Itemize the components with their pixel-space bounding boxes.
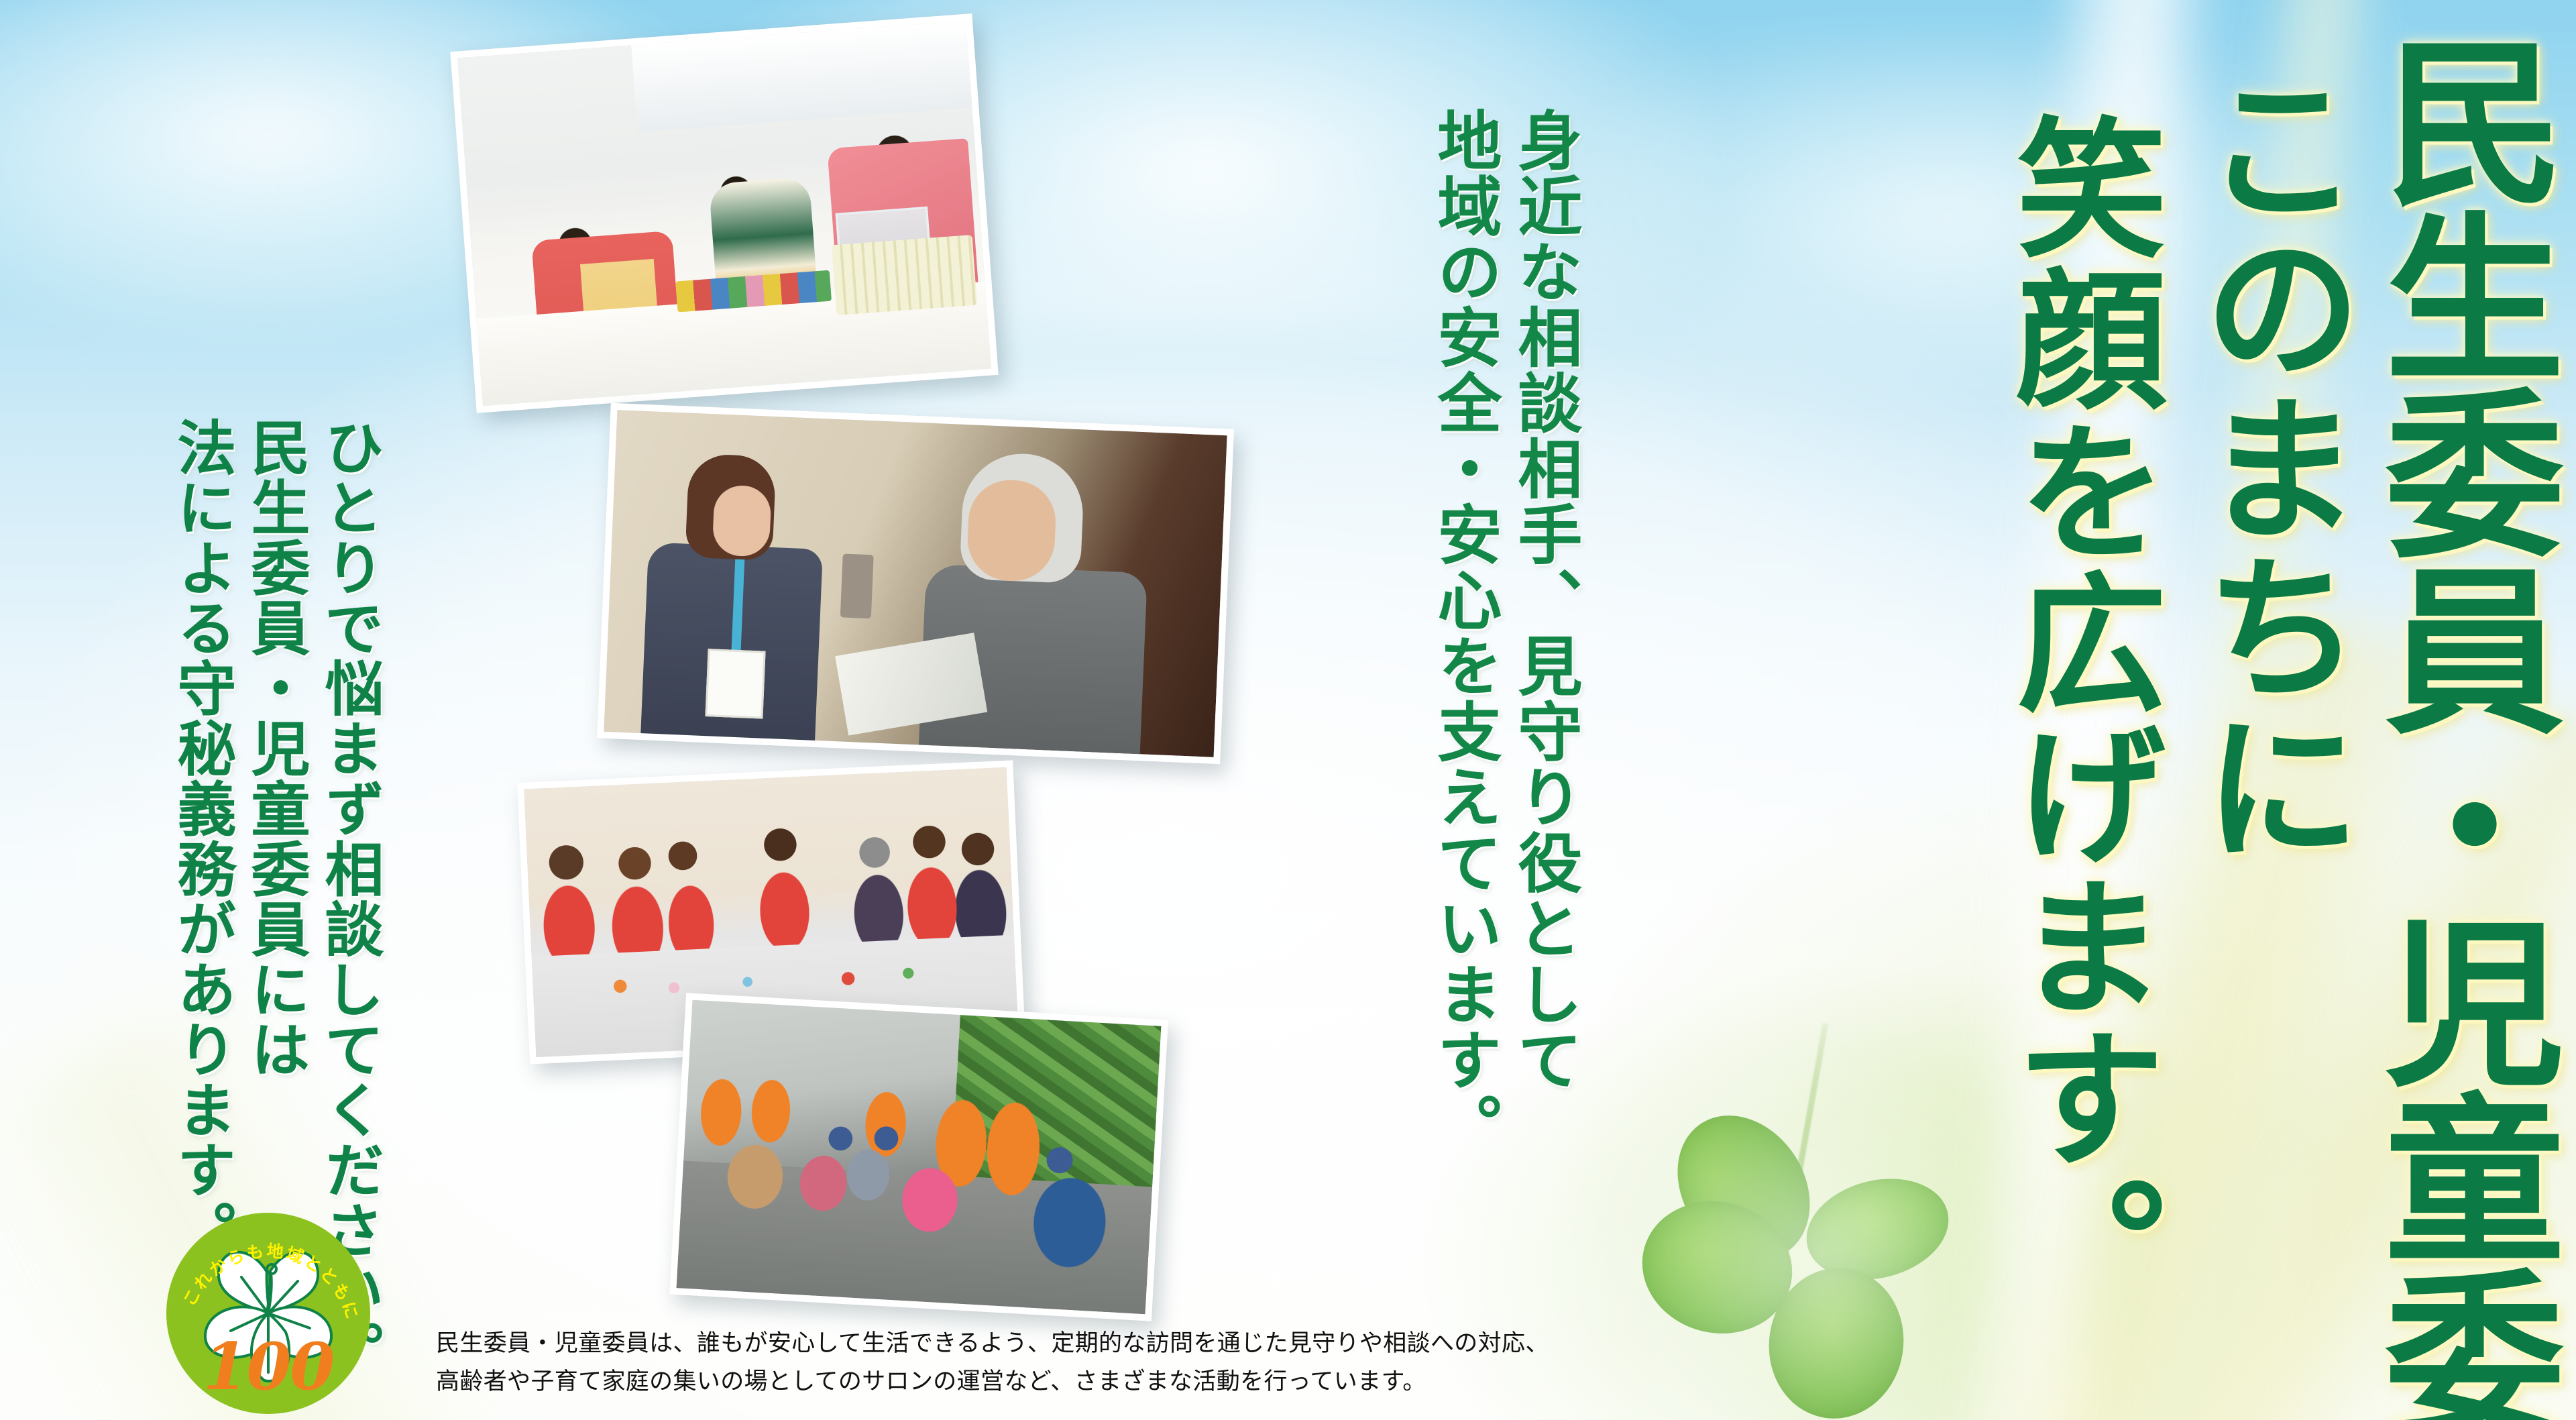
left-message-column-3: 法による守秘義務があります。 (173, 417, 232, 1260)
poster-title-column-3: 笑顔を広げます。 (2003, 111, 2153, 1325)
caption-line-2: 高齢者や子育て家庭の集いの場としてのサロンの運営など、さまざまな活動を行っていま… (436, 1363, 1804, 1401)
poster-subtitle-column-1: 身近な相談相手、見守り役として (1512, 107, 1577, 1093)
photo-school-route-watch (669, 993, 1168, 1321)
poster-title-column-2: このまちに (2190, 67, 2348, 867)
poster-canvas: 民生委員・児童委員は このまちに 笑顔を広げます。 身近な相談相手、見守り役とし… (0, 0, 2576, 1420)
bottom-caption: 民生委員・児童委員は、誰もが安心して生活できるよう、定期的な訪問を通じた見守りや… (436, 1325, 1804, 1401)
photo-childcare-play-session (450, 13, 998, 413)
anniversary-logo-badge: これからも地域とともに 100 (166, 1213, 370, 1414)
poster-subtitle-column-2: 地域の安全・安心を支えています。 (1432, 107, 1496, 1158)
left-message-column-2: 民生委員・児童委員には (247, 417, 306, 1079)
caption-line-1: 民生委員・児童委員は、誰もが安心して生活できるよう、定期的な訪問を通じた見守りや… (436, 1325, 1804, 1363)
photo-home-visit-elderly-man (597, 403, 1234, 765)
logo-number-100: 100 (166, 1335, 370, 1399)
poster-title-column-1: 民生委員・児童委員は (2369, 30, 2549, 1420)
